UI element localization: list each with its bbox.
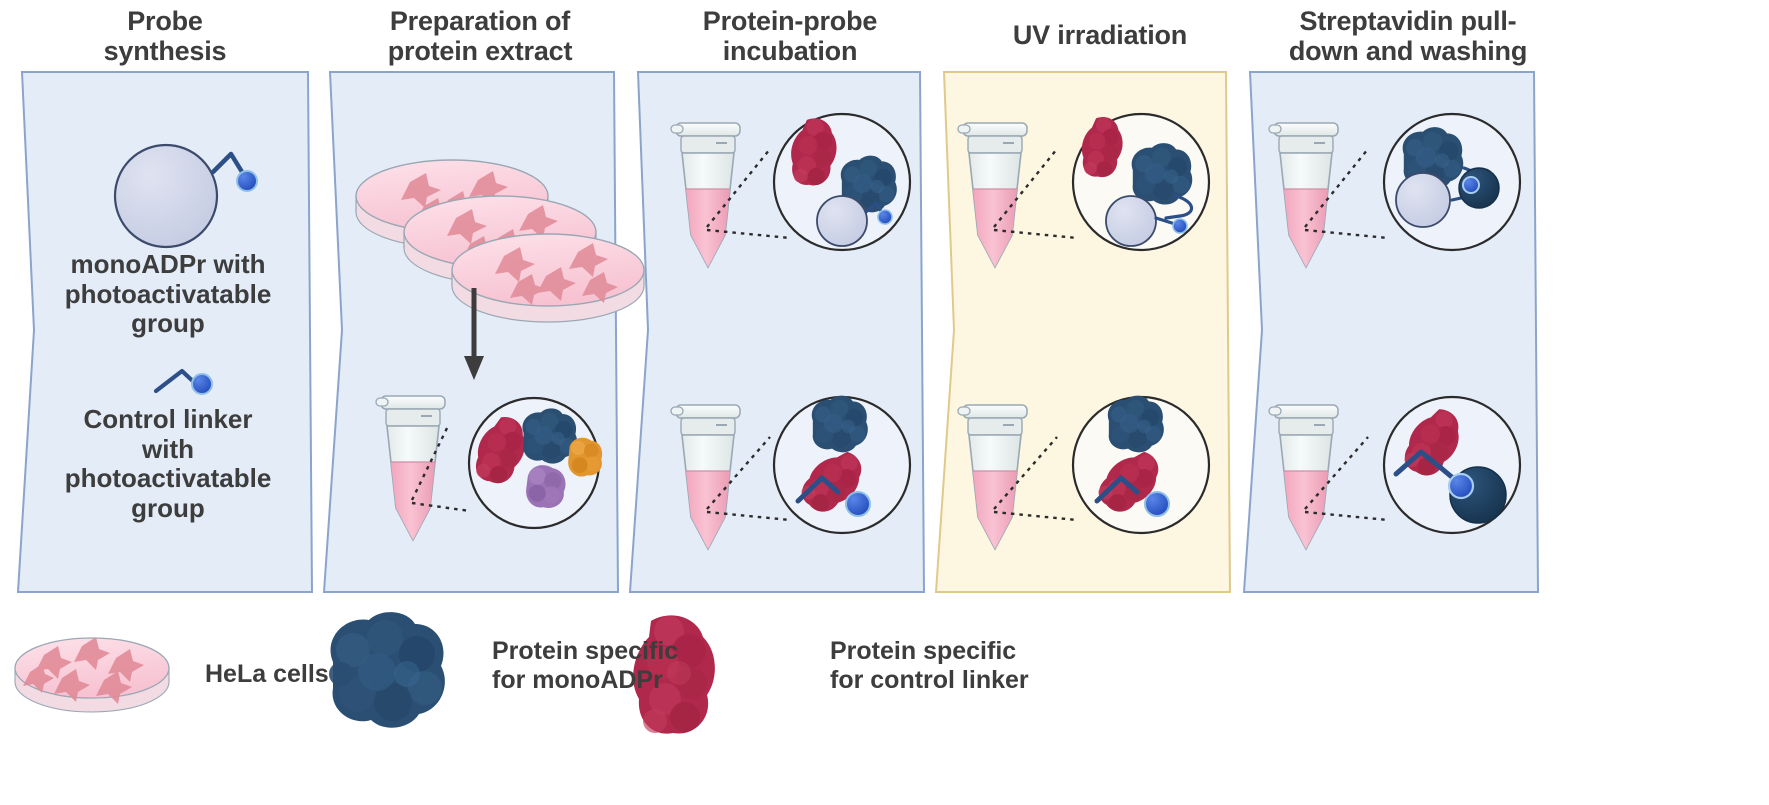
protein-blob-orange — [568, 438, 602, 477]
photoactivatable-dot-icon — [878, 210, 892, 224]
legend-petri-dish — [15, 637, 169, 712]
protein-blob-blue — [1108, 396, 1164, 453]
adpr-circle-icon — [1396, 173, 1450, 227]
photoactivatable-dot-icon — [1173, 219, 1187, 233]
photoactivatable-dot-icon — [846, 492, 870, 516]
label-line2: with — [38, 435, 298, 465]
protein-blob-blue-crosslinked — [1132, 143, 1193, 204]
photoactivatable-dot-icon — [1145, 492, 1169, 516]
photoactivatable-dot-icon — [1449, 474, 1473, 498]
legend-item-protein-monoadpr: Protein specific for monoADPr — [492, 637, 732, 695]
label-line1: Control linker — [38, 405, 298, 435]
legend-label-line2: for control linker — [830, 666, 1090, 695]
label-line4: group — [38, 494, 298, 524]
label-line3: photoactivatable — [38, 464, 298, 494]
legend-label-line2: for monoADPr — [492, 666, 732, 695]
control-linker-label: Control linker with photoactivatable gro… — [38, 405, 298, 524]
monoadpr-probe-label: monoADPr with photoactivatable group — [38, 250, 298, 339]
photoactivatable-dot-icon — [192, 374, 212, 394]
petri-dish — [452, 234, 644, 322]
label-line3: group — [38, 309, 298, 339]
photoactivatable-dot-icon — [1463, 177, 1479, 193]
protein-blob-purple — [526, 465, 565, 508]
legend-item-protein-control: Protein specific for control linker — [830, 637, 1090, 695]
legend-item-hela-cells: HeLa cells — [205, 660, 405, 689]
adpr-circle-icon — [817, 196, 867, 246]
legend-label-line1: HeLa cells — [205, 660, 405, 689]
adpr-circle-icon — [1106, 196, 1156, 246]
legend-label-line1: Protein specific — [492, 637, 732, 666]
figure-canvas: Probe synthesis Preparation of protein e… — [0, 0, 1769, 805]
protein-blob-blue — [812, 396, 868, 453]
legend-label-line1: Protein specific — [830, 637, 1090, 666]
adpr-circle-icon — [115, 145, 217, 247]
label-line2: photoactivatable — [38, 280, 298, 310]
label-line1: monoADPr with — [38, 250, 298, 280]
photoactivatable-dot-icon — [237, 171, 257, 191]
